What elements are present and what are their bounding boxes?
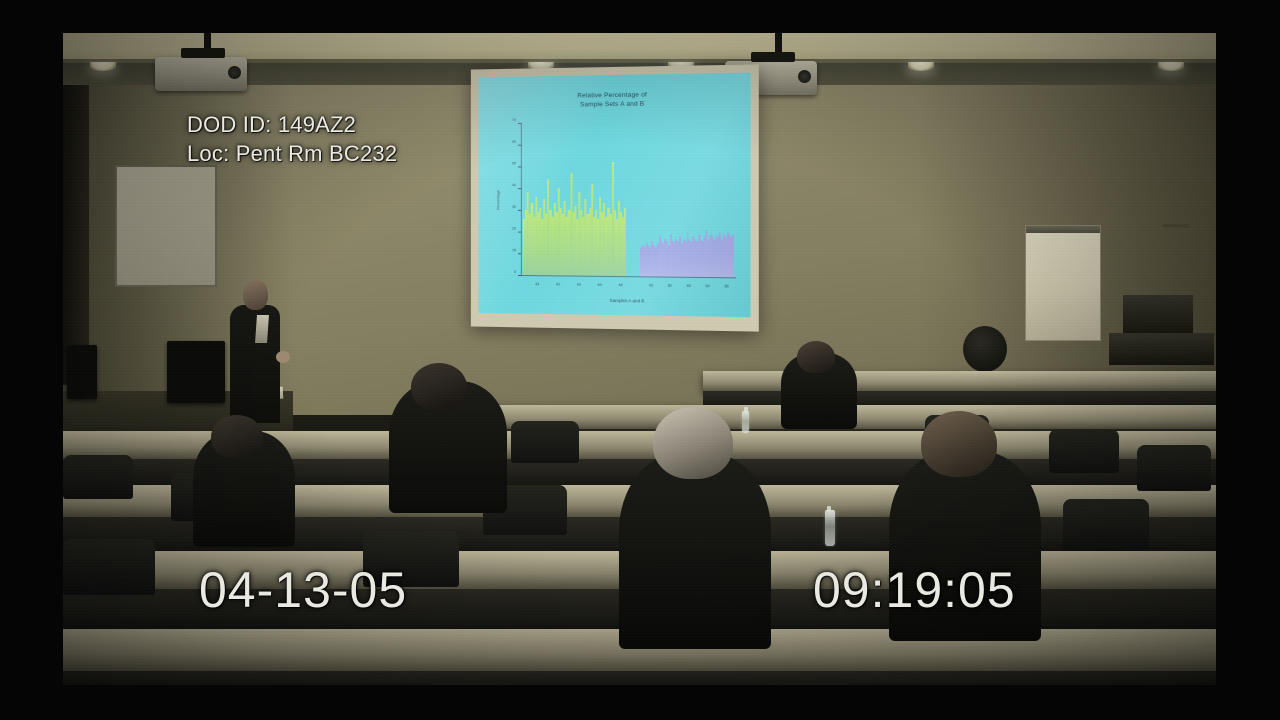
- projection-screen: Relative Percentage of Sample Sets A and…: [471, 64, 759, 331]
- side-equipment: [1109, 333, 1214, 365]
- projector-mount-icon: [751, 52, 795, 62]
- wall-speaker: [963, 326, 1007, 372]
- audience-head: [797, 341, 835, 373]
- chart-series-a: [523, 122, 627, 276]
- y-tick-label: 40: [512, 183, 516, 187]
- desk-row: [703, 371, 1216, 393]
- projector-mount-icon: [181, 48, 225, 58]
- presenter-hand: [276, 351, 290, 363]
- side-equipment: [1123, 295, 1193, 337]
- y-tick: [518, 210, 522, 211]
- projector-lens-icon: [798, 70, 811, 83]
- y-tick-label: 0: [514, 270, 516, 274]
- y-tick-label: 60: [512, 140, 516, 144]
- audience-head: [411, 363, 467, 411]
- water-bottle: [742, 411, 749, 433]
- chart-plot-area: Percentage Samples A and B 0102030405060…: [521, 122, 736, 279]
- wall-sign: ROOM BC232: [1155, 223, 1197, 243]
- y-tick-label: 30: [512, 205, 516, 209]
- y-tick-label: 20: [512, 227, 516, 231]
- x-tick-label: A2: [556, 282, 560, 286]
- chair: [63, 539, 155, 595]
- x-tick-label: B1: [649, 283, 653, 287]
- projector-lens-icon: [228, 66, 241, 79]
- ceiling-light-icon: [90, 62, 116, 71]
- osd-identification: DOD ID: 149AZ2 Loc: Pent Rm BC232: [187, 110, 397, 168]
- x-tick-label: A5: [619, 283, 623, 287]
- x-tick-label: B3: [687, 284, 691, 288]
- osd-location: Loc: Pent Rm BC232: [187, 141, 397, 166]
- monitor: [67, 345, 97, 399]
- x-tick-label: A3: [577, 283, 581, 287]
- y-tick: [518, 166, 522, 167]
- chair: [511, 421, 579, 463]
- osd-time: 09:19:05: [813, 562, 1016, 618]
- osd-dod-id: DOD ID: 149AZ2: [187, 112, 356, 137]
- chart-bar: [624, 208, 626, 276]
- x-tick-label: B5: [724, 284, 728, 288]
- x-axis-label: Samples A and B: [521, 297, 736, 305]
- x-tick-label: B2: [668, 284, 672, 288]
- water-bottle: [825, 510, 835, 546]
- audience-head: [653, 407, 733, 479]
- ceiling-light-icon: [908, 62, 934, 71]
- chart-bar: [732, 235, 734, 278]
- chair: [1063, 499, 1149, 551]
- whiteboard: [115, 165, 217, 287]
- y-tick: [518, 275, 522, 276]
- presenter: [230, 305, 280, 423]
- chair: [1049, 429, 1119, 473]
- projected-slide: Relative Percentage of Sample Sets A and…: [478, 73, 750, 318]
- presenter-head: [243, 280, 268, 310]
- x-tick-label: A1: [535, 282, 539, 286]
- audience-member: [619, 453, 771, 649]
- y-tick: [518, 188, 522, 189]
- y-tick: [518, 145, 522, 146]
- video-frame: Relative Percentage of Sample Sets A and…: [0, 0, 1280, 720]
- chart-title: Relative Percentage of Sample Sets A and…: [478, 89, 750, 111]
- desk-row-front: [63, 671, 1216, 685]
- flipchart: [1025, 225, 1101, 341]
- y-tick-label: 70: [512, 118, 516, 122]
- x-tick-label: B4: [706, 284, 710, 288]
- presenter-shirt: [255, 315, 269, 343]
- y-tick-label: 10: [512, 248, 516, 252]
- chair: [63, 455, 133, 499]
- ceiling-projector: [155, 57, 247, 91]
- chair: [1137, 445, 1211, 491]
- audience-head: [211, 415, 263, 459]
- y-tick: [518, 232, 522, 233]
- audience-head: [921, 411, 997, 477]
- osd-date: 04-13-05: [199, 562, 407, 618]
- y-axis-label: Percentage: [496, 190, 501, 210]
- y-tick-label: 50: [512, 161, 516, 165]
- monitor: [167, 341, 225, 403]
- y-tick: [518, 123, 522, 124]
- y-tick: [518, 253, 522, 254]
- x-tick-label: A4: [598, 283, 602, 287]
- chart-series-b: [640, 121, 734, 278]
- flipchart-clamp: [1026, 226, 1100, 233]
- ceiling-light-icon: [1158, 62, 1184, 71]
- side-door: [63, 85, 89, 385]
